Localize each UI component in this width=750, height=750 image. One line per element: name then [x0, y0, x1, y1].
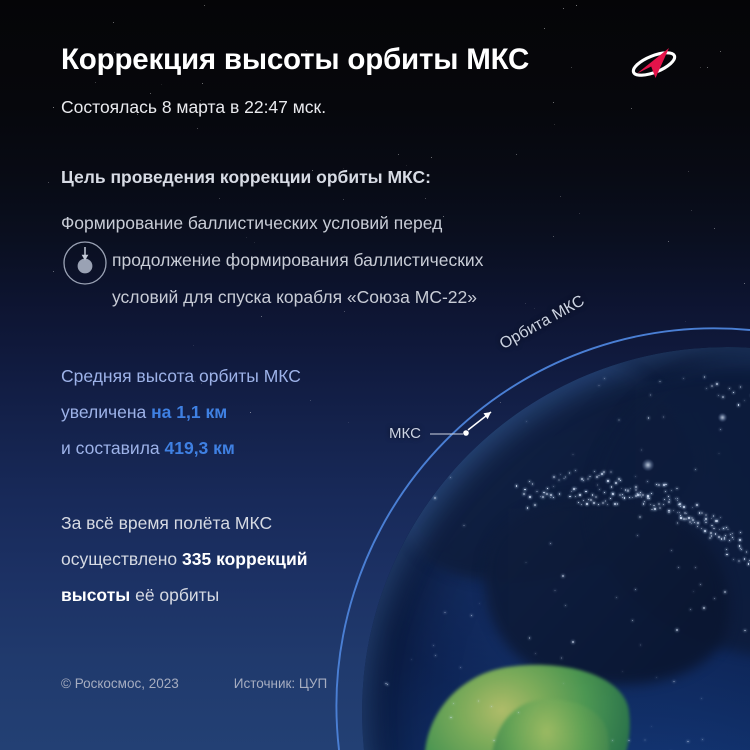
footer-source: Источник: ЦУП	[234, 676, 327, 691]
page-subtitle: Состоялась 8 марта в 22:47 мск.	[61, 97, 326, 118]
stat-altitude-line-3-prefix: и составила	[61, 438, 165, 458]
iss-marker-dot	[463, 430, 469, 436]
stat-altitude-line-2-prefix: увеличена	[61, 402, 151, 422]
roscosmos-logo	[625, 45, 683, 83]
descent-icon-body	[78, 259, 93, 274]
stat-altitude-value: 419,3 км	[165, 438, 235, 458]
goal-heading: Цель проведения коррекции орбиты МКС:	[61, 167, 431, 188]
goal-line-3: условий для спуска корабля «Союза МС-22»	[61, 279, 606, 316]
infographic-poster: Орбита МКС МКС Коррекция высоты орбиты М…	[0, 0, 750, 750]
stat-altitude-line-2: увеличена на 1,1 км	[61, 394, 401, 430]
goal-line-2: продолжение формирования баллистических	[61, 242, 606, 279]
goal-body: Формирование баллистических условий пере…	[61, 205, 606, 316]
stat-corrections-line-2: осуществлено 335 коррекций	[61, 541, 401, 577]
stat-altitude-line-1: Средняя высота орбиты МКС	[61, 358, 401, 394]
stat-altitude-line-3: и составила 419,3 км	[61, 430, 401, 466]
stat-corrections-count: 335 коррекций	[182, 549, 307, 569]
stat-altitude-delta: на 1,1 км	[151, 402, 227, 422]
descent-icon	[60, 238, 110, 288]
stat-corrections: За всё время полёта МКС осуществлено 335…	[61, 505, 401, 613]
stat-altitude: Средняя высота орбиты МКС увеличена на 1…	[61, 358, 401, 466]
stat-corrections-line-3: высоты её орбиты	[61, 577, 401, 613]
footer: © Роскосмос, 2023Источник: ЦУП	[61, 676, 327, 691]
footer-copyright: © Роскосмос, 2023	[61, 676, 179, 691]
page-title: Коррекция высоты орбиты МКС	[61, 43, 529, 77]
stat-corrections-line-3-bold: высоты	[61, 585, 130, 605]
stat-corrections-line-1: За всё время полёта МКС	[61, 505, 401, 541]
iss-direction-arrow-head	[484, 412, 492, 419]
stat-corrections-line-3-suffix: её орбиты	[130, 585, 219, 605]
goal-line-1: Формирование баллистических условий пере…	[61, 213, 442, 233]
stat-corrections-line-2-prefix: осуществлено	[61, 549, 182, 569]
